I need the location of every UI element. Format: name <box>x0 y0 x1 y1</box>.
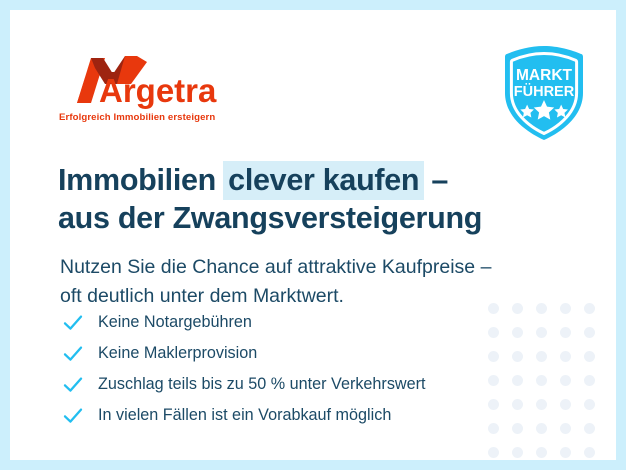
badge-line2: FÜHRER <box>514 83 575 100</box>
benefit-label: Keine Notargebühren <box>98 313 252 332</box>
decorative-dot <box>584 303 595 314</box>
benefit-item: Keine Notargebühren <box>62 307 426 338</box>
decorative-dot <box>584 447 595 458</box>
decorative-dot <box>536 303 547 314</box>
decorative-dot <box>488 399 499 410</box>
decorative-dot <box>536 399 547 410</box>
decorative-dot <box>512 327 523 338</box>
decorative-dot <box>584 399 595 410</box>
headline-line-2: aus der Zwangsversteigerung <box>58 199 482 237</box>
decorative-dot <box>584 351 595 362</box>
decorative-dot-grid <box>488 303 608 460</box>
decorative-dot <box>512 423 523 434</box>
subheadline-line-1: Nutzen Sie die Chance auf attraktive Kau… <box>60 253 491 282</box>
check-icon <box>62 343 84 365</box>
headline: Immobilien clever kaufen – aus der Zwang… <box>58 161 482 237</box>
decorative-dot <box>536 447 547 458</box>
decorative-dot <box>512 303 523 314</box>
promo-banner: Argetra Erfolgreich Immobilien ersteiger… <box>0 0 626 470</box>
decorative-dot <box>536 351 547 362</box>
logo-wordmark: Argetra <box>99 72 217 109</box>
badge-line1: MARKT <box>516 67 572 84</box>
benefit-label: Zuschlag teils bis zu 50 % unter Verkehr… <box>98 375 426 394</box>
check-icon <box>62 312 84 334</box>
decorative-dot <box>512 399 523 410</box>
decorative-dot <box>560 303 571 314</box>
decorative-dot <box>560 351 571 362</box>
decorative-dot <box>536 375 547 386</box>
headline-line-1: Immobilien clever kaufen – <box>58 161 482 199</box>
decorative-dot <box>560 447 571 458</box>
decorative-dot <box>584 423 595 434</box>
decorative-dot <box>512 447 523 458</box>
benefits-list: Keine NotargebührenKeine Maklerprovision… <box>62 307 426 431</box>
benefit-label: In vielen Fällen ist ein Vorabkauf mögli… <box>98 406 391 425</box>
markt-fuehrer-badge[interactable]: MARKT FÜHRER <box>494 43 594 143</box>
decorative-dot <box>536 423 547 434</box>
decorative-dot <box>488 375 499 386</box>
headline-text-after: – <box>423 163 448 197</box>
benefit-item: Keine Maklerprovision <box>62 338 426 369</box>
decorative-dot <box>584 327 595 338</box>
headline-highlight: clever kaufen <box>223 161 424 200</box>
check-icon <box>62 374 84 396</box>
banner-card: Argetra Erfolgreich Immobilien ersteiger… <box>10 10 616 460</box>
argetra-logo[interactable]: Argetra Erfolgreich Immobilien ersteiger… <box>55 50 255 128</box>
check-icon <box>62 405 84 427</box>
decorative-dot <box>488 423 499 434</box>
decorative-dot <box>512 375 523 386</box>
decorative-dot <box>488 447 499 458</box>
benefit-item: In vielen Fällen ist ein Vorabkauf mögli… <box>62 400 426 431</box>
decorative-dot <box>560 399 571 410</box>
decorative-dot <box>560 327 571 338</box>
decorative-dot <box>488 327 499 338</box>
decorative-dot <box>488 351 499 362</box>
benefit-label: Keine Maklerprovision <box>98 344 257 363</box>
decorative-dot <box>560 423 571 434</box>
logo-tagline: Erfolgreich Immobilien ersteigern <box>59 112 215 123</box>
subheadline: Nutzen Sie die Chance auf attraktive Kau… <box>60 253 491 311</box>
decorative-dot <box>536 327 547 338</box>
headline-text-before: Immobilien <box>58 163 224 197</box>
decorative-dot <box>512 351 523 362</box>
decorative-dot <box>560 375 571 386</box>
decorative-dot <box>584 375 595 386</box>
benefit-item: Zuschlag teils bis zu 50 % unter Verkehr… <box>62 369 426 400</box>
